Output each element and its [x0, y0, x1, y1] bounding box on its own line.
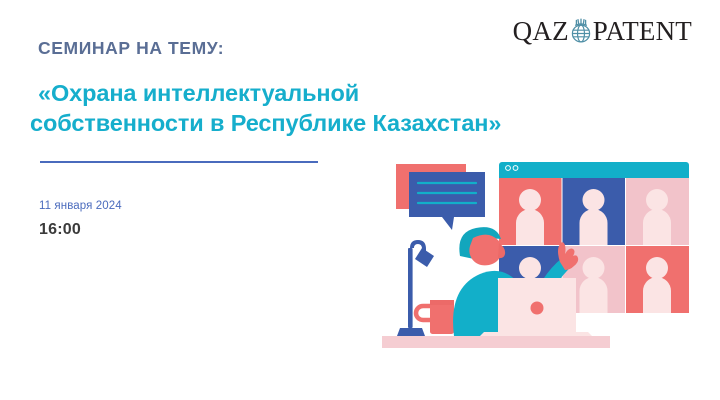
avatar	[580, 257, 608, 313]
illustration-canvas	[372, 160, 696, 356]
event-date: 11 января 2024	[39, 200, 122, 212]
avatar	[516, 189, 544, 245]
desk-surface	[382, 336, 610, 348]
qazpatent-globe-icon	[567, 16, 595, 46]
qazpatent-logo: QAZ PATENT	[513, 14, 692, 48]
seminar-eyebrow: СЕМИНАР НА ТЕМУ:	[38, 38, 224, 59]
video-conference-illustration	[372, 160, 696, 356]
logo-text-qaz: QAZ	[513, 18, 569, 45]
event-time: 16:00	[39, 221, 81, 239]
avatar	[580, 189, 608, 245]
divider	[40, 161, 318, 163]
logo-text-patent: PATENT	[593, 18, 692, 45]
page-title-line-2: собственности в Республике Казахстан»	[30, 108, 410, 138]
page-title-line-1: «Охрана интеллектуальной	[30, 78, 410, 108]
seminar-announcement-slide: QAZ PATENT СЕМИНАР НА ТЕМУ: «Охрана инт	[0, 0, 720, 400]
avatar	[643, 257, 671, 313]
avatar	[643, 189, 671, 245]
page-title: «Охрана интеллектуальной собственности в…	[30, 78, 410, 138]
front-bubble-icon	[409, 172, 485, 230]
